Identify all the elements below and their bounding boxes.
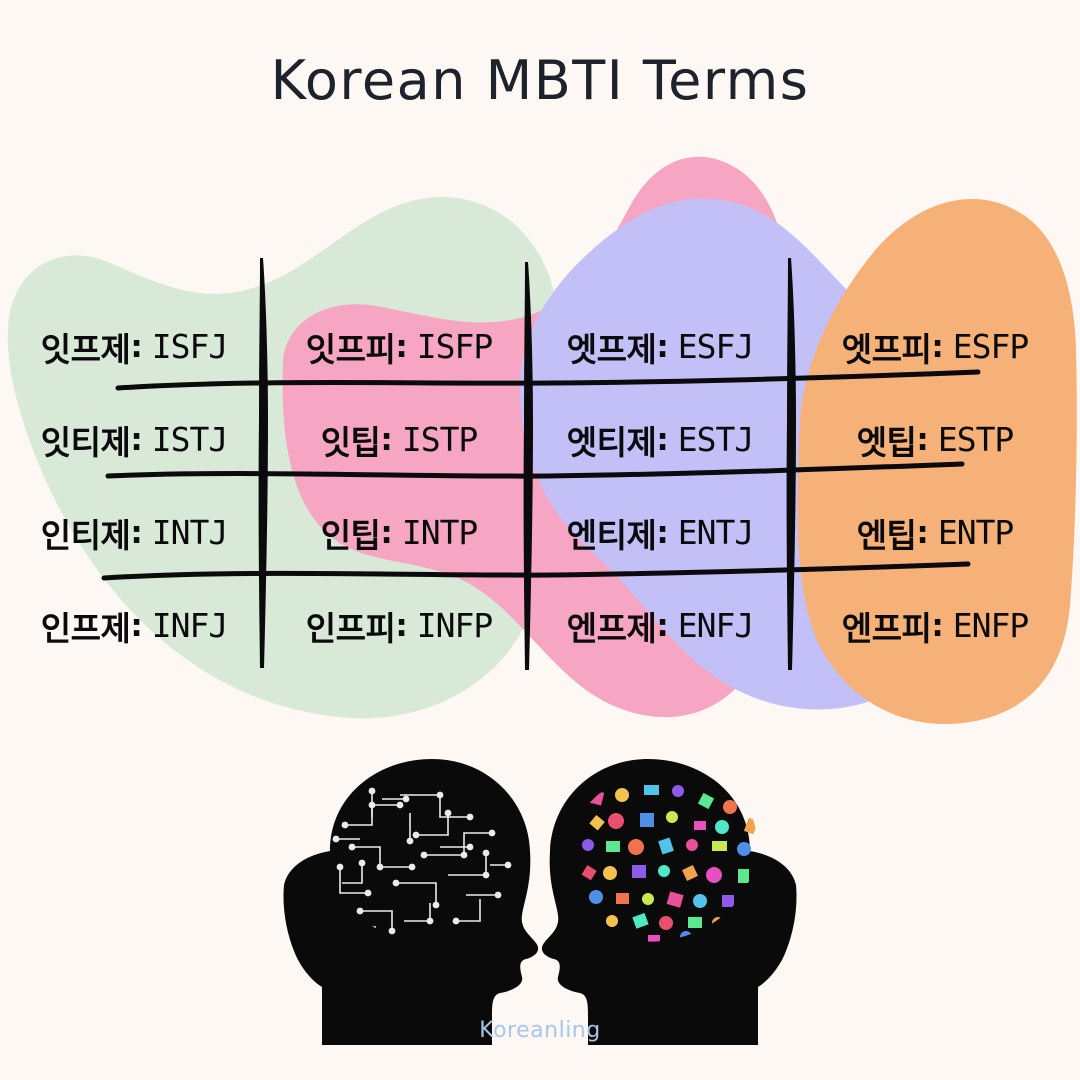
korean-term: 엣프피 [842,323,932,371]
mbti-type: ENFJ [678,606,753,645]
title-container: Korean MBTI Terms [0,0,1080,160]
separator: : [656,329,668,365]
mbti-cell-esfp[interactable]: 엣프피:ESFP [790,300,1080,393]
mbti-type: ISFP [417,327,492,366]
mbti-type: ISTP [402,420,477,459]
mbti-cell-esfj[interactable]: 엣프제:ESFJ [530,300,790,393]
mbti-type: ISFJ [152,327,227,366]
korean-term: 엔팁 [857,509,917,557]
korean-term: 엔프피 [842,602,932,650]
mbti-cell-enfp[interactable]: 엔프피:ENFP [790,579,1080,672]
separator: : [656,422,668,458]
separator: : [931,608,943,644]
mbti-cell-isfp[interactable]: 잇프피:ISFP [268,300,530,393]
heads-illustration [0,755,1080,1045]
mbti-infographic-page: { "page": { "title": "Korean MBTI Terms"… [0,0,1080,1080]
separator: : [380,515,392,551]
separator: : [380,422,392,458]
mbti-cell-isfj[interactable]: 잇프제:ISFJ [0,300,268,393]
left-head-silhouette [283,759,538,1045]
mbti-cell-istj[interactable]: 잇티제:ISTJ [0,393,268,486]
mbti-type: ESFJ [678,327,753,366]
separator: : [916,515,928,551]
separator: : [916,422,928,458]
mbti-cell-entj[interactable]: 엔티제:ENTJ [530,486,790,579]
korean-term: 잇프피 [306,323,396,371]
korean-term: 인팁 [321,509,381,557]
korean-term: 잇티제 [41,416,131,464]
mbti-cell-istp[interactable]: 잇팁:ISTP [268,393,530,486]
brand-watermark: Koreanling [479,1018,600,1043]
mbti-cell-infj[interactable]: 인프제:INFJ [0,579,268,672]
separator: : [395,329,407,365]
separator: : [656,515,668,551]
separator: : [130,608,142,644]
mbti-type: INFP [417,606,492,645]
mbti-type: INFJ [152,606,227,645]
mbti-type: ESTP [938,420,1013,459]
mbti-type: INTJ [152,513,227,552]
mbti-type: ENTP [938,513,1013,552]
korean-term: 엣팁 [857,416,917,464]
mbti-cell-intp[interactable]: 인팁:INTP [268,486,530,579]
korean-term: 인프제 [41,602,131,650]
mbti-type: ISTJ [152,420,227,459]
separator: : [656,608,668,644]
mbti-cell-estp[interactable]: 엣팁:ESTP [790,393,1080,486]
mbti-type: ESTJ [678,420,753,459]
separator: : [931,329,943,365]
separator: : [130,329,142,365]
mbti-cell-infp[interactable]: 인프피:INFP [268,579,530,672]
separator: : [395,608,407,644]
korean-term: 엣프제 [567,323,657,371]
mbti-type: ENFP [953,606,1028,645]
korean-term: 잇프제 [41,323,131,371]
mbti-type: ESFP [953,327,1028,366]
mbti-cell-entp[interactable]: 엔팁:ENTP [790,486,1080,579]
mbti-cell-estj[interactable]: 엣티제:ESTJ [530,393,790,486]
right-head-silhouette [542,759,797,1045]
korean-term: 잇팁 [321,416,381,464]
mbti-grid: 잇프제:ISFJ 잇프피:ISFP 엣프제:ESFJ 엣프피:ESFP 잇티제:… [0,300,1080,672]
korean-term: 엣티제 [567,416,657,464]
watermark-container: Koreanling [0,1018,1080,1043]
separator: : [130,422,142,458]
separator: : [130,515,142,551]
mbti-cell-enfj[interactable]: 엔프제:ENFJ [530,579,790,672]
mbti-type: INTP [402,513,477,552]
korean-term: 인티제 [41,509,131,557]
mbti-cell-intj[interactable]: 인티제:INTJ [0,486,268,579]
page-title: Korean MBTI Terms [271,49,810,112]
mbti-type: ENTJ [678,513,753,552]
korean-term: 엔프제 [567,602,657,650]
korean-term: 인프피 [306,602,396,650]
korean-term: 엔티제 [567,509,657,557]
